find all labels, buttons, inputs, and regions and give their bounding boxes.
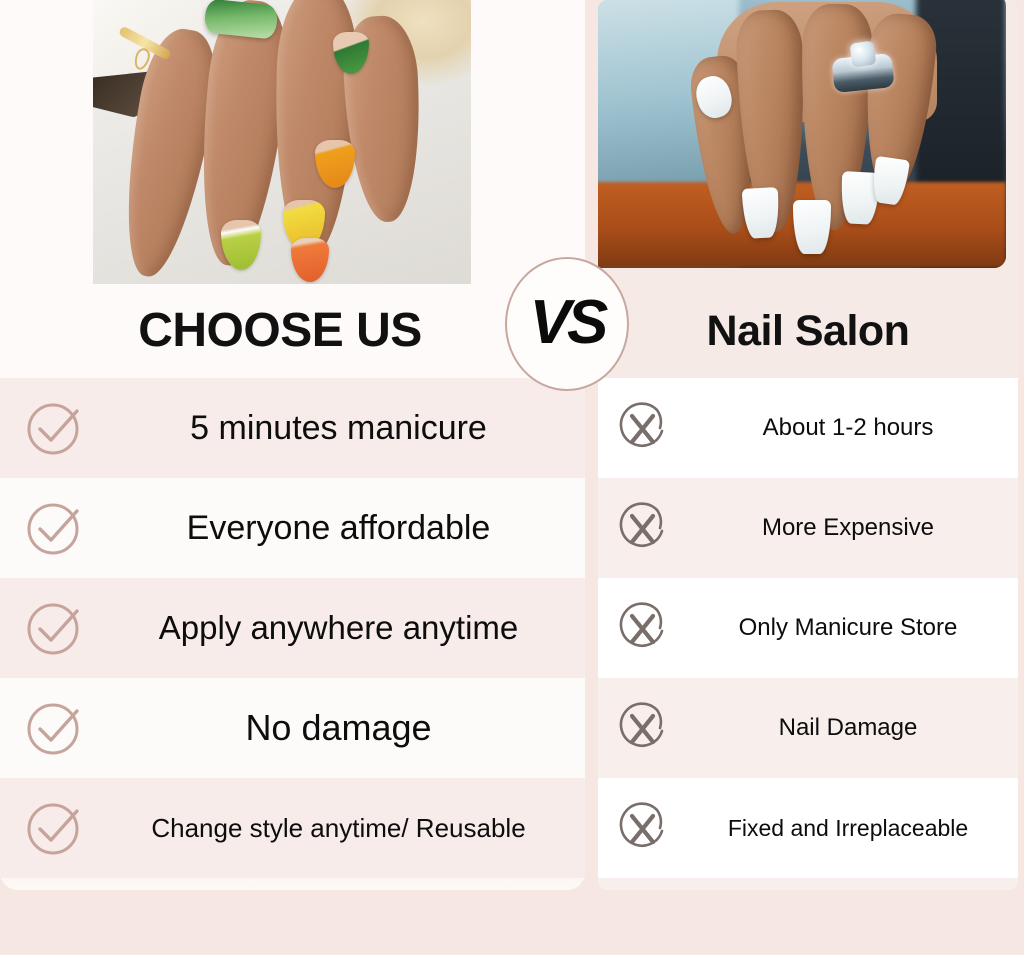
x-circle-icon bbox=[598, 400, 688, 456]
table-row: No damage bbox=[0, 678, 585, 778]
left-header: CHOOSE US bbox=[0, 0, 585, 378]
table-row: About 1-2 hours bbox=[598, 378, 1018, 478]
table-row: Fixed and Irreplaceable bbox=[598, 778, 1018, 878]
versus-label: VS bbox=[530, 292, 605, 354]
check-circle-icon bbox=[0, 497, 110, 559]
table-row: Nail Damage bbox=[598, 678, 1018, 778]
drawback-label: Nail Damage bbox=[688, 714, 1018, 742]
table-row: Apply anywhere anytime bbox=[0, 578, 585, 678]
comparison-infographic: CHOOSE US 5 minutes manicure bbox=[0, 0, 1024, 955]
right-panel-footer-spacer bbox=[598, 878, 1018, 890]
table-row: Only Manicure Store bbox=[598, 578, 1018, 678]
x-circle-icon bbox=[598, 500, 688, 556]
citrus-nail-art-photo bbox=[93, 0, 471, 284]
choose-us-feature-list: 5 minutes manicure Everyone affordable bbox=[0, 378, 585, 890]
left-panel-footer-spacer bbox=[0, 878, 585, 890]
drawback-label: More Expensive bbox=[688, 514, 1018, 542]
table-row: Everyone affordable bbox=[0, 478, 585, 578]
nail-salon-heading: Nail Salon bbox=[598, 292, 1018, 370]
check-circle-icon bbox=[0, 797, 110, 859]
check-circle-icon bbox=[0, 697, 110, 759]
drawback-label: Fixed and Irreplaceable bbox=[688, 815, 1018, 842]
table-row: Change style anytime/ Reusable bbox=[0, 778, 585, 878]
check-circle-icon bbox=[0, 397, 110, 459]
choose-us-column: CHOOSE US 5 minutes manicure bbox=[0, 0, 585, 890]
x-circle-icon bbox=[598, 700, 688, 756]
feature-label: No damage bbox=[110, 707, 585, 749]
choose-us-heading: CHOOSE US bbox=[0, 292, 560, 370]
table-row: More Expensive bbox=[598, 478, 1018, 578]
right-header: Nail Salon bbox=[598, 0, 1018, 378]
drawback-label: Only Manicure Store bbox=[688, 614, 1018, 642]
feature-label: Change style anytime/ Reusable bbox=[110, 813, 585, 844]
nail-salon-column: Nail Salon About 1-2 hours bbox=[598, 0, 1018, 890]
nail-salon-feature-list: About 1-2 hours More Expensive bbox=[598, 378, 1018, 890]
x-circle-icon bbox=[598, 600, 688, 656]
x-circle-icon bbox=[598, 800, 688, 856]
drawback-label: About 1-2 hours bbox=[688, 414, 1018, 442]
versus-badge: VS bbox=[505, 257, 629, 391]
check-circle-icon bbox=[0, 597, 110, 659]
feature-label: Apply anywhere anytime bbox=[110, 609, 585, 647]
feature-label: Everyone affordable bbox=[110, 509, 585, 548]
white-nails-ring-photo bbox=[598, 0, 1006, 268]
feature-label: 5 minutes manicure bbox=[110, 409, 585, 448]
table-row: 5 minutes manicure bbox=[0, 378, 585, 478]
